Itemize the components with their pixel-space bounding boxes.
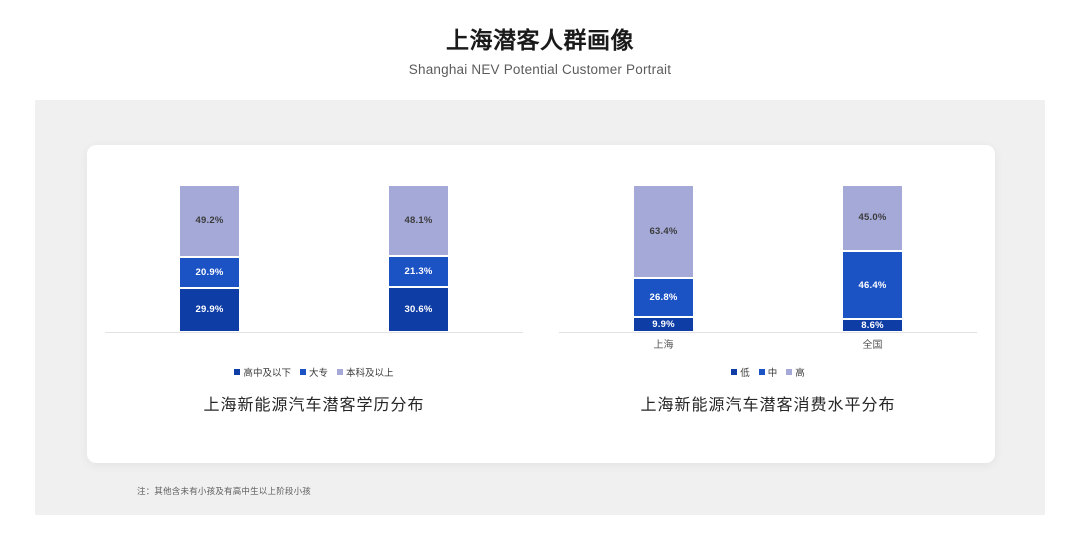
page-subtitle: Shanghai NEV Potential Customer Portrait (0, 55, 1080, 77)
legend-label: 中 (768, 365, 778, 379)
legend-item[interactable]: 中 (759, 365, 778, 379)
legend-swatch-icon (759, 369, 765, 375)
chart-2-legend: 低中高 (541, 365, 995, 379)
page-header: 上海潜客人群画像 Shanghai NEV Potential Customer… (0, 0, 1080, 77)
legend-label: 本科及以上 (346, 365, 394, 379)
footnote: 注：其他含未有小孩及有高中生以上阶段小孩 (137, 485, 311, 497)
chart-2-x-labels: 上海全国 (559, 336, 977, 351)
stacked-bar: 48.1%21.3%30.6% (388, 185, 449, 332)
legend-item[interactable]: 低 (731, 365, 750, 379)
bar-segment: 8.6% (842, 319, 903, 332)
bar-column: 63.4%26.8%9.9% (603, 185, 725, 332)
bar-segment: 63.4% (633, 185, 694, 278)
legend-label: 低 (740, 365, 750, 379)
legend-swatch-icon (731, 369, 737, 375)
legend-item[interactable]: 高 (786, 365, 805, 379)
chart-2-bars: 63.4%26.8%9.9%45.0%46.4%8.6% (559, 185, 977, 332)
chart-1-caption: 上海新能源汽车潜客学历分布 (87, 391, 541, 415)
legend-swatch-icon (300, 369, 306, 375)
bar-segment: 9.9% (633, 317, 694, 332)
bar-column: 48.1%21.3%30.6% (358, 185, 480, 332)
bar-column: 49.2%20.9%29.9% (149, 185, 271, 332)
chart-1-axis-line (105, 332, 523, 333)
chart-1-bars: 49.2%20.9%29.9%48.1%21.3%30.6% (105, 185, 523, 332)
legend-label: 高中及以下 (243, 365, 291, 379)
bar-column: 45.0%46.4%8.6% (812, 185, 934, 332)
bar-segment: 21.3% (388, 256, 449, 287)
x-axis-label: 上海 (603, 336, 725, 351)
legend-swatch-icon (786, 369, 792, 375)
charts-card: 49.2%20.9%29.9%48.1%21.3%30.6% 高中及以下大专本科… (87, 145, 995, 463)
slide-page: 上海潜客人群画像 Shanghai NEV Potential Customer… (0, 0, 1080, 547)
chart-2-plot: 63.4%26.8%9.9%45.0%46.4%8.6% (559, 185, 977, 332)
x-axis-label: 全国 (812, 336, 934, 351)
chart-education-distribution: 49.2%20.9%29.9%48.1%21.3%30.6% 高中及以下大专本科… (87, 145, 541, 420)
legend-swatch-icon (337, 369, 343, 375)
page-title: 上海潜客人群画像 (0, 0, 1080, 55)
legend-label: 高 (795, 365, 805, 379)
chart-2-axis-line (559, 332, 977, 333)
content-panel: 49.2%20.9%29.9%48.1%21.3%30.6% 高中及以下大专本科… (35, 100, 1045, 515)
chart-1-plot: 49.2%20.9%29.9%48.1%21.3%30.6% (105, 185, 523, 332)
chart-consumption-level-distribution: 63.4%26.8%9.9%45.0%46.4%8.6% 上海全国 低中高 上海… (541, 145, 995, 420)
bar-segment: 20.9% (179, 257, 240, 288)
legend-item[interactable]: 大专 (300, 365, 328, 379)
legend-swatch-icon (234, 369, 240, 375)
stacked-bar: 45.0%46.4%8.6% (842, 185, 903, 332)
legend-item[interactable]: 本科及以上 (337, 365, 394, 379)
legend-label: 大专 (309, 365, 328, 379)
bar-segment: 26.8% (633, 278, 694, 317)
bar-segment: 46.4% (842, 251, 903, 319)
bar-segment: 29.9% (179, 288, 240, 332)
legend-item[interactable]: 高中及以下 (234, 365, 291, 379)
bar-segment: 30.6% (388, 287, 449, 332)
bar-segment: 48.1% (388, 185, 449, 256)
charts-row: 49.2%20.9%29.9%48.1%21.3%30.6% 高中及以下大专本科… (87, 145, 995, 420)
bar-segment: 49.2% (179, 185, 240, 257)
chart-1-legend: 高中及以下大专本科及以上 (87, 365, 541, 379)
bar-segment: 45.0% (842, 185, 903, 251)
stacked-bar: 63.4%26.8%9.9% (633, 185, 694, 332)
chart-2-caption: 上海新能源汽车潜客消费水平分布 (541, 391, 995, 415)
stacked-bar: 49.2%20.9%29.9% (179, 185, 240, 332)
